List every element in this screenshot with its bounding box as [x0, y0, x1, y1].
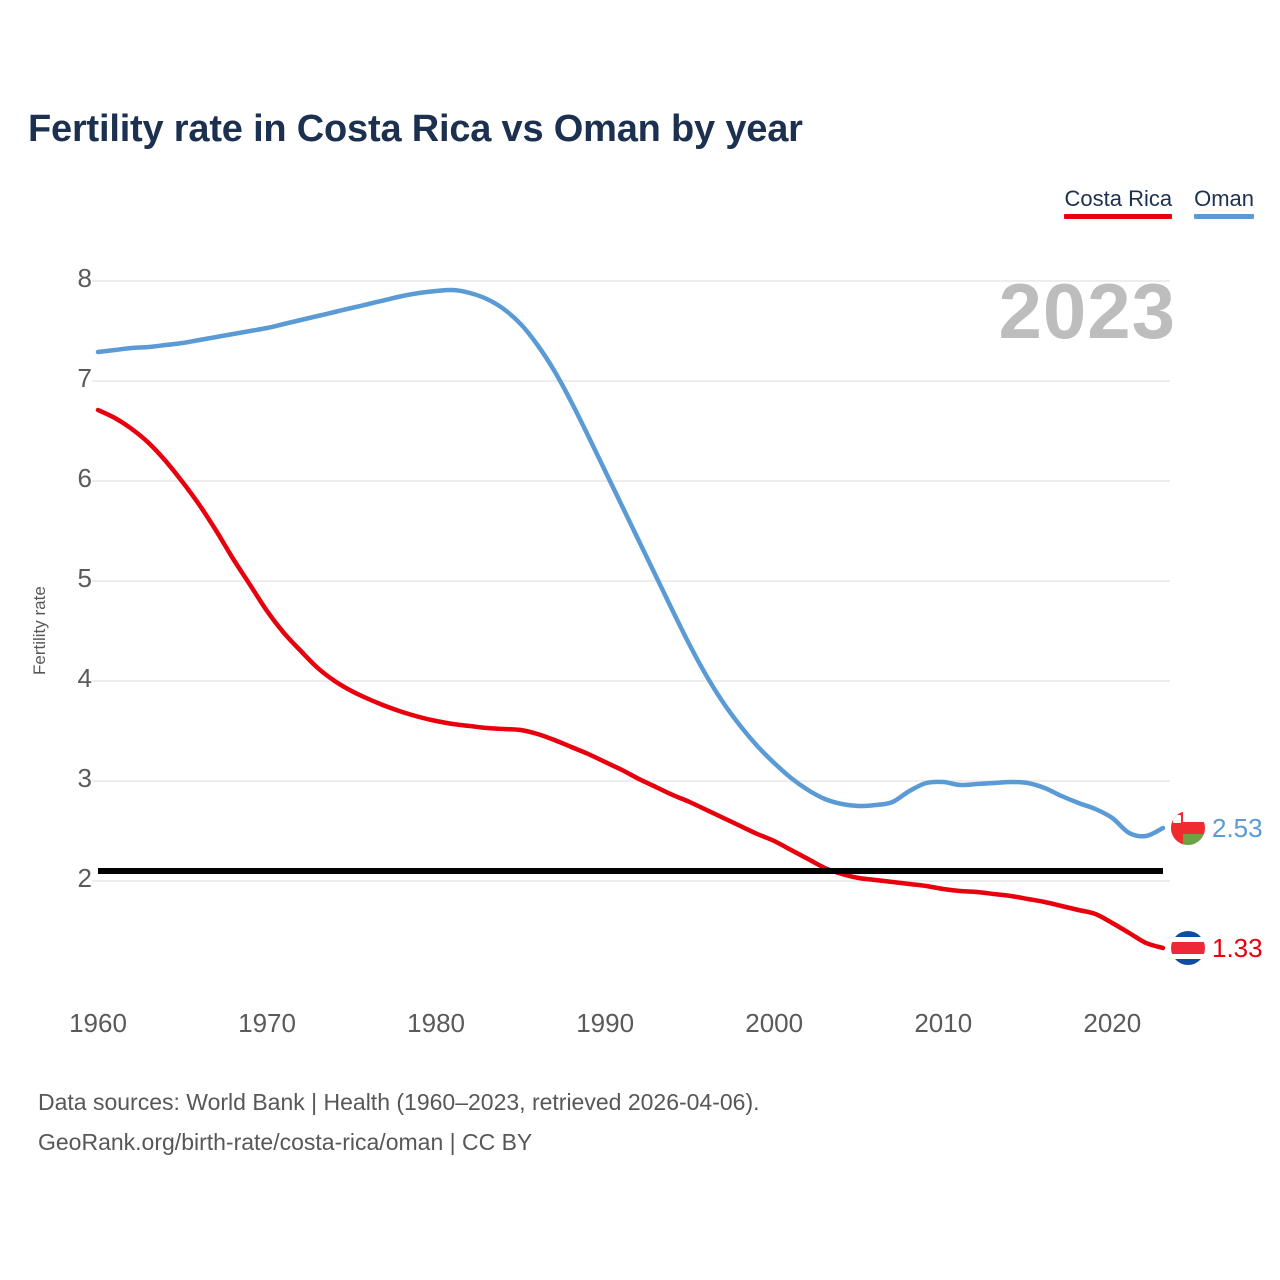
costa-rica-flag-icon [1171, 931, 1205, 965]
x-axis-tick-label: 2020 [1083, 1008, 1141, 1039]
end-label-costa-rica: 1.33 [1171, 931, 1263, 965]
x-axis-tick-label: 2000 [745, 1008, 803, 1039]
y-axis-tick-label: 8 [52, 263, 92, 294]
y-axis-tick-label: 6 [52, 463, 92, 494]
footer-line-1: Data sources: World Bank | Health (1960–… [38, 1082, 760, 1122]
series-lines [98, 290, 1163, 948]
fertility-rate-chart: Fertility rate in Costa Rica vs Oman by … [0, 0, 1280, 1280]
end-label-oman-value: 2.53 [1212, 813, 1263, 844]
x-axis-tick-label: 1980 [407, 1008, 465, 1039]
y-axis-tick-label: 2 [52, 863, 92, 894]
footer-sources: Data sources: World Bank | Health (1960–… [38, 1082, 760, 1162]
x-axis-tick-label: 2010 [914, 1008, 972, 1039]
series-line-oman [98, 290, 1163, 836]
x-axis-tick-label: 1990 [576, 1008, 634, 1039]
y-axis-tick-label: 4 [52, 663, 92, 694]
gridlines [92, 281, 1170, 881]
x-axis-tick-label: 1970 [238, 1008, 296, 1039]
oman-flag-icon [1171, 811, 1205, 845]
footer-line-2: GeoRank.org/birth-rate/costa-rica/oman |… [38, 1122, 760, 1162]
end-label-oman: 2.53 [1171, 811, 1263, 845]
y-axis-tick-label: 7 [52, 363, 92, 394]
series-line-costa-rica [98, 410, 1163, 948]
y-axis-tick-label: 3 [52, 763, 92, 794]
y-axis-tick-label: 5 [52, 563, 92, 594]
end-label-costa-rica-value: 1.33 [1212, 933, 1263, 964]
x-axis-tick-label: 1960 [69, 1008, 127, 1039]
